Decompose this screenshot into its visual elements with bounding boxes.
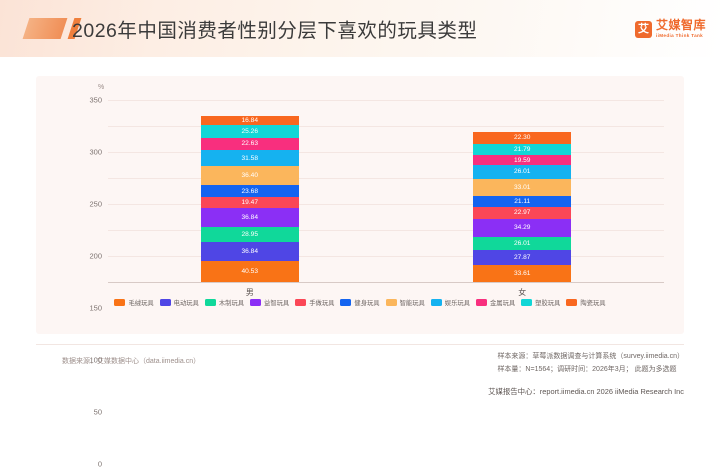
- footer-sample-size: 样本量：N=1564；调研时间：2026年3月； 此题为多选题: [497, 363, 684, 376]
- legend-item[interactable]: 木制玩具: [205, 298, 244, 307]
- legend-label: 娱乐玩具: [445, 298, 470, 307]
- bar-segment[interactable]: 36.84: [201, 242, 299, 261]
- footer-report-center: 艾媒报告中心：report.iimedia.cn 2026 iiMedia Re…: [488, 386, 684, 397]
- gridline: 0: [108, 282, 664, 283]
- y-axis-unit-label: %: [98, 84, 104, 91]
- legend-swatch: [566, 299, 577, 306]
- bar-segment[interactable]: 28.95: [201, 227, 299, 242]
- bar-segment[interactable]: 25.26: [201, 125, 299, 138]
- bar-segment[interactable]: 26.01: [473, 165, 571, 179]
- bar-segment[interactable]: 19.47: [201, 197, 299, 207]
- bar-segment[interactable]: 21.11: [473, 196, 571, 207]
- bar-segment[interactable]: 33.61: [473, 265, 571, 282]
- x-axis-label: 男: [201, 287, 299, 298]
- legend-item[interactable]: 毛绒玩具: [114, 298, 153, 307]
- legend-item[interactable]: 电动玩具: [160, 298, 199, 307]
- logo-text: 艾媒智库 iiMedia Think Tank: [656, 19, 706, 38]
- bar-segment[interactable]: 26.01: [473, 237, 571, 251]
- legend-label: 电动玩具: [174, 298, 199, 307]
- legend-item[interactable]: 陶瓷玩具: [566, 298, 605, 307]
- x-axis-label: 女: [473, 287, 571, 298]
- bar-segment[interactable]: 21.79: [473, 144, 571, 155]
- page-title: 2026年中国消费者性别分层下喜欢的玩具类型: [72, 14, 477, 43]
- bar-segment[interactable]: 22.30: [473, 132, 571, 144]
- bar-segment[interactable]: 31.58: [201, 150, 299, 166]
- legend-label: 塑胶玩具: [535, 298, 560, 307]
- chart-bars: 40.5336.8428.9536.8419.4723.6836.4031.58…: [108, 100, 664, 282]
- legend-swatch: [160, 299, 171, 306]
- footer-divider: [36, 344, 684, 345]
- chart-plot-area: 050100150200250300350 40.5336.8428.9536.…: [108, 100, 664, 282]
- legend-label: 手做玩具: [309, 298, 334, 307]
- legend-swatch: [386, 299, 397, 306]
- legend-item[interactable]: 金属玩具: [476, 298, 515, 307]
- footer-sample-source: 样本来源：草莓派数据调查与计算系统（survey.iimedia.cn）: [497, 350, 684, 363]
- bar-segment[interactable]: 40.53: [201, 261, 299, 282]
- logo-name-cn: 艾媒智库: [656, 19, 706, 31]
- accent-bar-thick: [23, 18, 68, 39]
- bar-column-男[interactable]: 40.5336.8428.9536.8419.4723.6836.4031.58…: [201, 116, 299, 282]
- logo-name-en: iiMedia Think Tank: [656, 34, 706, 39]
- legend-item[interactable]: 益智玩具: [250, 298, 289, 307]
- legend-swatch: [476, 299, 487, 306]
- legend-label: 益智玩具: [264, 298, 289, 307]
- legend-label: 木制玩具: [219, 298, 244, 307]
- legend-label: 金属玩具: [490, 298, 515, 307]
- bar-segment[interactable]: 22.63: [201, 138, 299, 150]
- legend-item[interactable]: 智能玩具: [386, 298, 425, 307]
- legend-swatch: [521, 299, 532, 306]
- legend-item[interactable]: 塑胶玩具: [521, 298, 560, 307]
- y-axis-tick-label: 200: [89, 252, 102, 261]
- brand-logo: 艾 艾媒智库 iiMedia Think Tank: [635, 16, 706, 42]
- bar-segment[interactable]: 19.59: [473, 155, 571, 165]
- legend-swatch: [250, 299, 261, 306]
- footer-sample-info: 样本来源：草莓派数据调查与计算系统（survey.iimedia.cn） 样本量…: [497, 350, 684, 376]
- bar-column-女[interactable]: 33.6127.8726.0134.2922.9721.1133.0126.01…: [473, 132, 571, 282]
- chart-card: % 050100150200250300350 40.5336.8428.953…: [36, 76, 684, 334]
- chart-legend: 毛绒玩具电动玩具木制玩具益智玩具手做玩具健身玩具智能玩具娱乐玩具金属玩具塑胶玩具…: [36, 298, 684, 307]
- legend-swatch: [205, 299, 216, 306]
- logo-mark-icon: 艾: [635, 21, 652, 38]
- footer-source: 数据来源：艾媒数据中心（data.iimedia.cn）: [62, 356, 200, 366]
- bar-segment[interactable]: 33.01: [473, 179, 571, 196]
- legend-item[interactable]: 健身玩具: [340, 298, 379, 307]
- legend-swatch: [114, 299, 125, 306]
- legend-swatch: [340, 299, 351, 306]
- y-axis-tick-label: 50: [94, 408, 102, 417]
- bar-segment[interactable]: 27.87: [473, 250, 571, 264]
- bar-segment[interactable]: 36.84: [201, 208, 299, 227]
- legend-item[interactable]: 手做玩具: [295, 298, 334, 307]
- bar-segment[interactable]: 36.40: [201, 166, 299, 185]
- legend-swatch: [431, 299, 442, 306]
- legend-label: 健身玩具: [354, 298, 379, 307]
- bar-segment[interactable]: 22.97: [473, 207, 571, 219]
- y-axis-tick-label: 250: [89, 200, 102, 209]
- bar-segment[interactable]: 23.68: [201, 185, 299, 197]
- y-axis-tick-label: 300: [89, 148, 102, 157]
- bar-segment[interactable]: 34.29: [473, 219, 571, 237]
- legend-label: 毛绒玩具: [128, 298, 153, 307]
- legend-swatch: [295, 299, 306, 306]
- bar-segment[interactable]: 16.84: [201, 116, 299, 125]
- legend-item[interactable]: 娱乐玩具: [431, 298, 470, 307]
- y-axis-tick-label: 350: [89, 96, 102, 105]
- page-header: 2026年中国消费者性别分层下喜欢的玩具类型 艾 艾媒智库 iiMedia Th…: [0, 0, 720, 57]
- legend-label: 陶瓷玩具: [580, 298, 605, 307]
- y-axis-tick-label: 0: [98, 460, 102, 469]
- legend-label: 智能玩具: [400, 298, 425, 307]
